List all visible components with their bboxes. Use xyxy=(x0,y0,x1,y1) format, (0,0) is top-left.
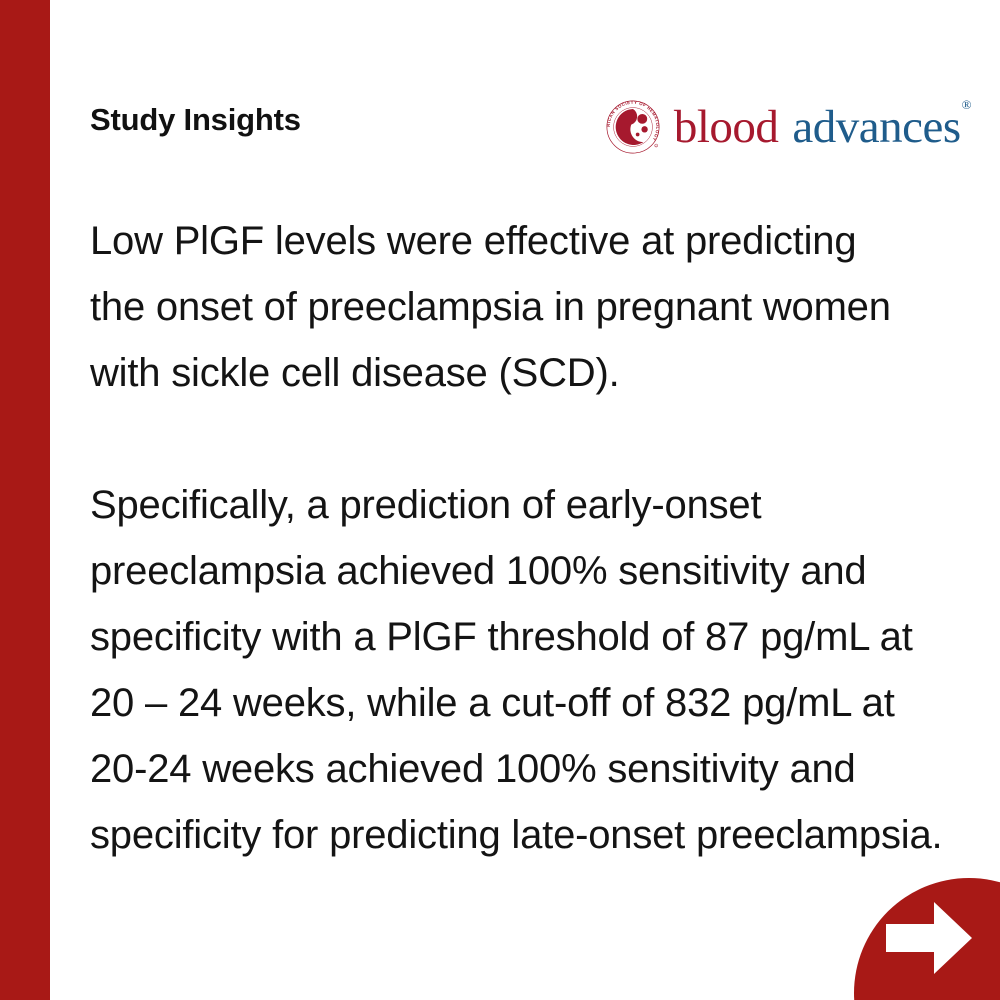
next-arrow-badge[interactable] xyxy=(850,850,1000,1000)
body-paragraph-2: Specifically, a prediction of early-onse… xyxy=(90,472,950,868)
registered-trademark-icon: ® xyxy=(962,97,971,112)
wordmark-advances-text: advances xyxy=(792,101,960,153)
body-paragraph-1: Low PlGF levels were effective at predic… xyxy=(90,208,920,406)
wordmark-advances: advances® xyxy=(792,104,970,151)
card-body: Low PlGF levels were effective at predic… xyxy=(90,208,950,868)
card-header: Study Insights AMERICAN SOCIETY OF HEMAT… xyxy=(90,96,970,158)
page-title: Study Insights xyxy=(90,102,301,138)
left-accent-bar xyxy=(0,0,50,1000)
arrow-right-icon xyxy=(886,902,972,974)
study-insights-card: Study Insights AMERICAN SOCIETY OF HEMAT… xyxy=(0,0,1000,1000)
journal-wordmark: blood advances® xyxy=(674,104,970,151)
blood-advances-logo: AMERICAN SOCIETY OF HEMATOLOGY R blood a… xyxy=(604,96,970,158)
wordmark-blood: blood xyxy=(674,104,779,151)
american-society-of-hematology-seal-icon: AMERICAN SOCIETY OF HEMATOLOGY R xyxy=(604,98,662,156)
